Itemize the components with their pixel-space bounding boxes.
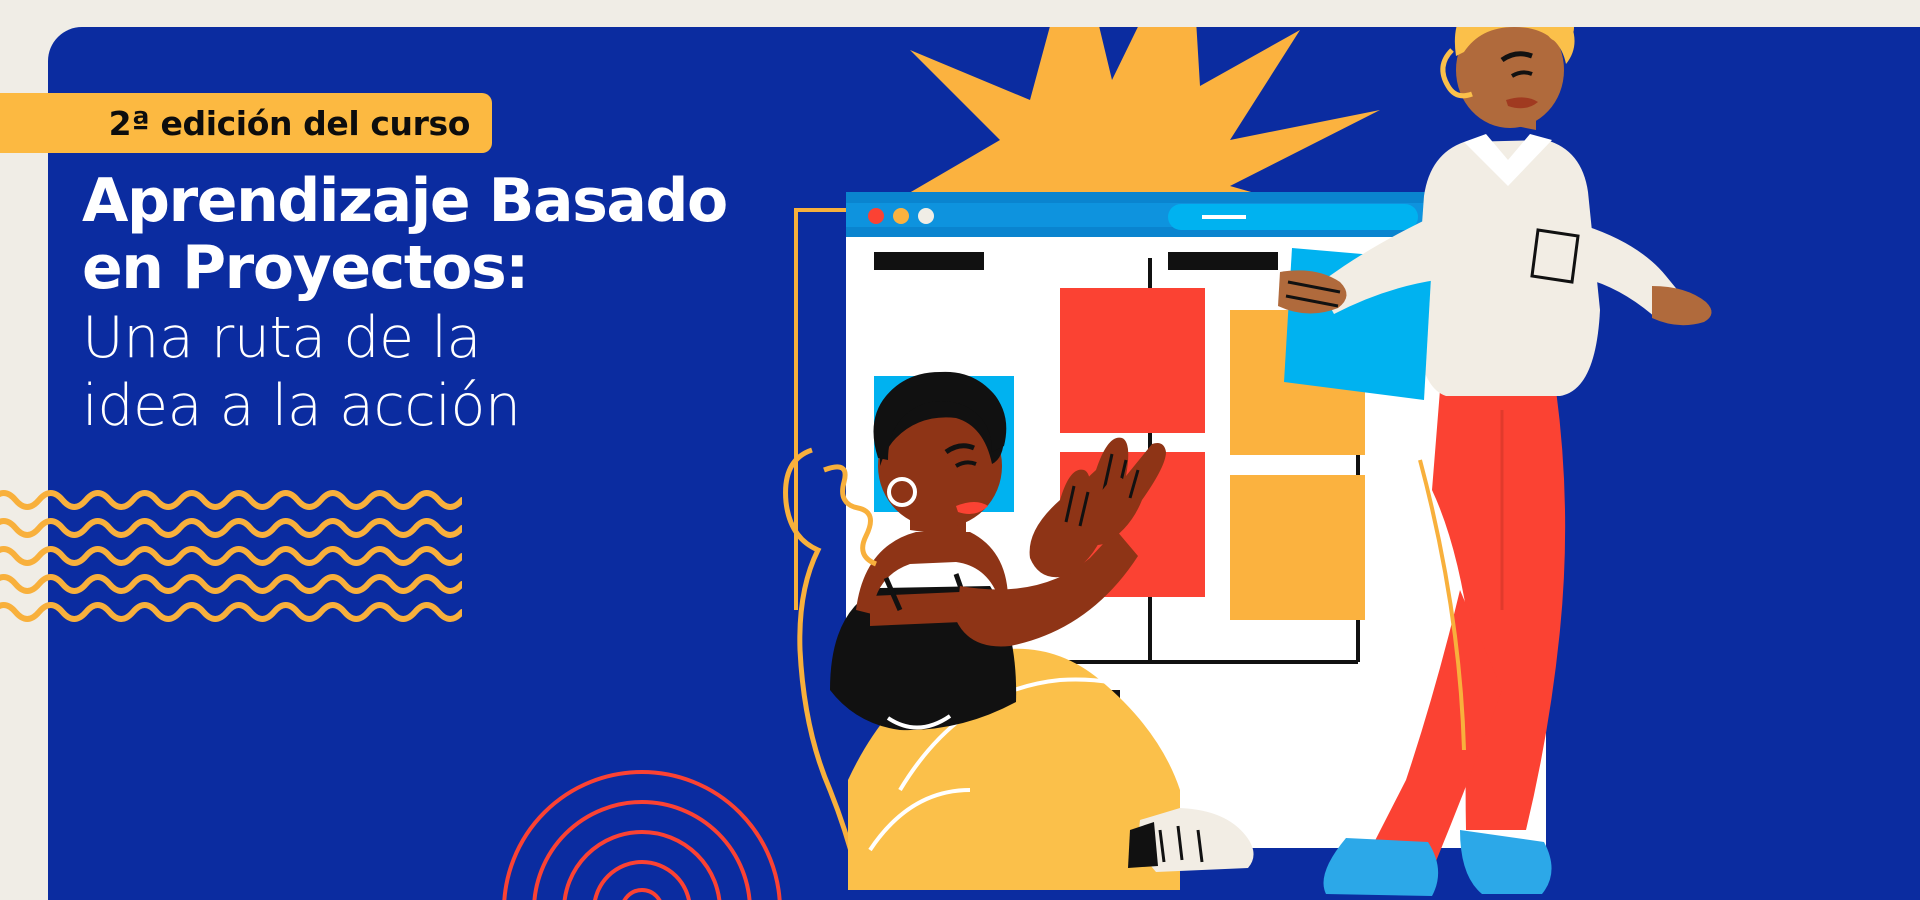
subheadline-line-2: idea a la acción	[82, 370, 882, 438]
kanban-card	[1060, 288, 1205, 433]
kanban-column-header	[874, 252, 984, 270]
concentric-circles-decoration	[492, 610, 792, 900]
headline-block: Aprendizaje Basado en Proyectos: Una rut…	[82, 168, 882, 438]
illustration	[760, 0, 1920, 900]
wavy-lines-decoration	[0, 488, 462, 633]
headline-line-2: en Proyectos:	[82, 235, 882, 302]
headline-line-1: Aprendizaje Basado	[82, 168, 882, 235]
edition-badge: 2ª edición del curso	[0, 93, 492, 153]
window-maximize-dot	[918, 208, 934, 224]
kanban-column-header	[1168, 252, 1278, 270]
edition-badge-label: 2ª edición del curso	[109, 104, 470, 143]
window-minimize-dot	[893, 208, 909, 224]
banner-canvas: 2ª edición del curso Aprendizaje Basado …	[0, 0, 1920, 900]
subheadline-line-1: Una ruta de la	[82, 302, 882, 370]
kanban-card	[1230, 475, 1365, 620]
